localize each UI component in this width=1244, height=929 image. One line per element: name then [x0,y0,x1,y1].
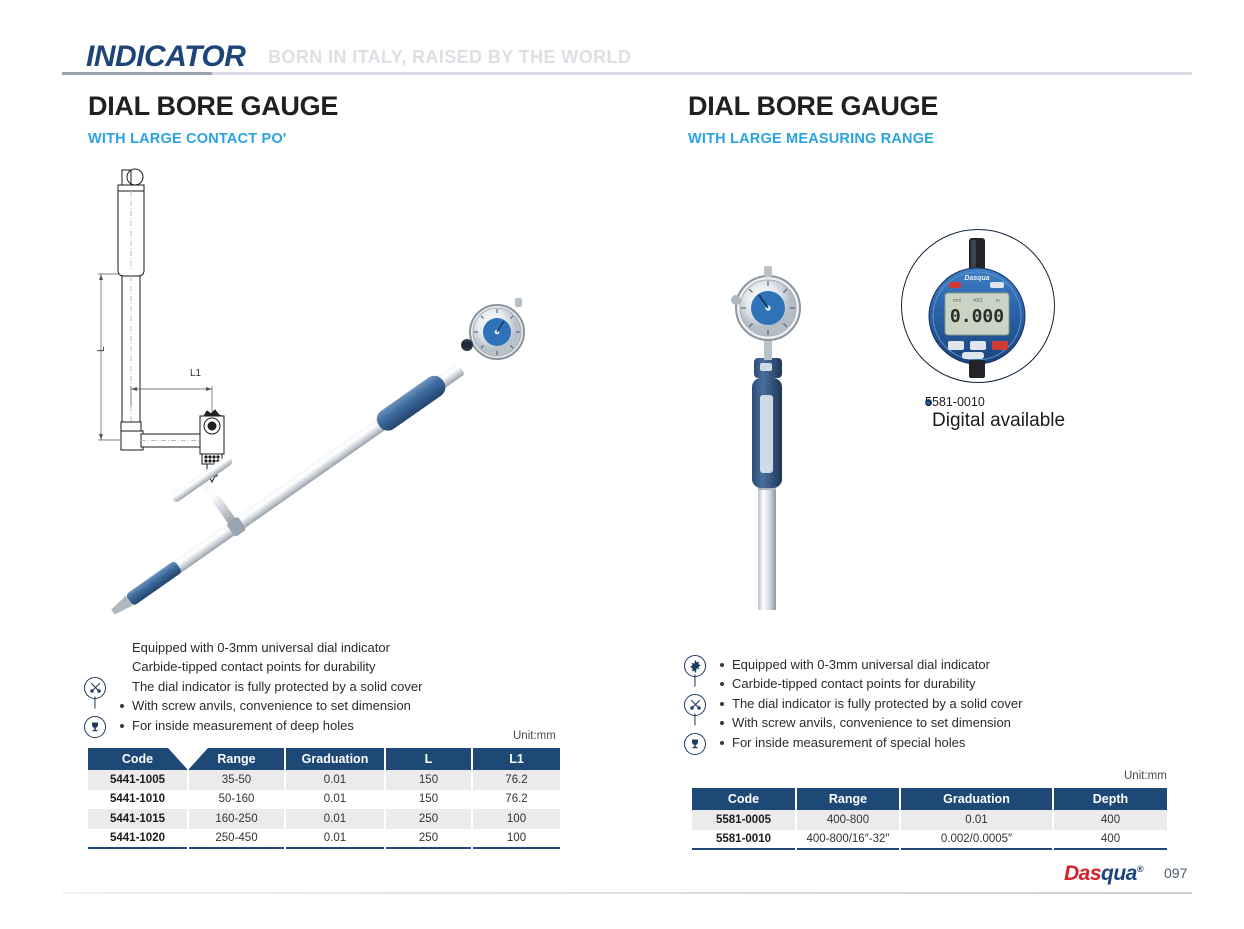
product-subtitle-left: WITH LARGE CONTACT PO' [88,131,311,147]
dash-connector-icon: | [684,713,706,725]
digital-indicator-image: 0.000 mmABSin Dasqua [918,238,1040,378]
feature-text: Equipped with 0-3mm universal dial indic… [132,638,390,657]
cell-code: 5441-1020 [88,829,188,849]
feature-row: | With screw anvils, convenience to set … [684,713,1104,732]
brand-logo: Dasqua® [1064,862,1143,886]
table-row[interactable]: 5581-0010 400-800/16″-32″ 0.002/0.0005″ … [692,830,1167,850]
feature-row: The dial indicator is fully protected by… [84,677,504,696]
brand-tagline: BORN IN ITALY, RAISED BY THE WORLD [268,47,631,68]
table-row[interactable]: 5441-1010 50-160 0.01 150 76.2 [88,790,560,810]
col-header-graduation: Graduation [285,748,385,770]
cell-range: 400-800 [796,810,900,830]
product-subtitle-right: WITH LARGE MEASURING RANGE [688,131,1188,147]
feature-list-right: Equipped with 0-3mm universal dial indic… [684,655,1104,752]
cell-range: 160-250 [188,809,285,829]
lcd-reading: 0.000 [950,306,1004,327]
feature-text: With screw anvils, convenience to set di… [732,713,1011,732]
cell-l1: 76.2 [472,790,560,810]
cell-l1: 100 [472,829,560,849]
cell-graduation: 0.002/0.0005″ [900,830,1053,850]
feature-row: Equipped with 0-3mm universal dial indic… [684,655,1104,674]
cell-code: 5441-1015 [88,809,188,829]
catalog-page: INDICATOR BORN IN ITALY, RAISED BY THE W… [0,0,1244,929]
table-row[interactable]: 5441-1015 160-250 0.01 250 100 [88,809,560,829]
col-header-code: Code [692,788,796,810]
table-row[interactable]: 5581-0005 400-800 0.01 400 [692,810,1167,830]
svg-text:in: in [996,298,1000,304]
feature-text: For inside measurement of deep holes [132,716,354,735]
cell-graduation: 0.01 [285,790,385,810]
page-number: 097 [1164,865,1187,881]
footer-divider [62,892,1192,894]
cell-graduation: 0.01 [285,829,385,849]
cell-graduation: 0.01 [285,809,385,829]
feature-text: The dial indicator is fully protected by… [132,677,422,696]
cell-code: 5581-0010 [692,830,796,850]
feature-text: Carbide-tipped contact points for durabi… [132,657,376,676]
cell-graduation: 0.01 [285,770,385,790]
feature-text: With screw anvils, convenience to set di… [132,696,411,715]
bullet-point [720,702,724,706]
cell-depth: 400 [1053,810,1167,830]
feature-row: | Carbide-tipped contact points for dura… [684,674,1104,693]
feature-text: The dial indicator is fully protected by… [732,694,1022,713]
cell-code: 5581-0005 [692,810,796,830]
table-row[interactable]: 5441-1020 250-450 0.01 250 100 [88,829,560,849]
spec-table-right: Code Range Graduation Depth 5581-0005 40… [692,788,1167,850]
bullet-point [720,741,724,745]
logo-trademark: ® [1137,864,1143,874]
svg-text:ABS: ABS [973,298,984,304]
cell-range: 400-800/16″-32″ [796,830,900,850]
cell-code: 5441-1010 [88,790,188,810]
trophy-icon [684,733,716,755]
callout-caption: Digital available [932,410,1065,432]
bullet-point [120,724,124,728]
logo-first-part: Das [1064,862,1101,885]
unit-label-right: Unit:mm [1124,770,1167,782]
feature-text: Carbide-tipped contact points for durabi… [732,674,976,693]
cell-l: 250 [385,809,472,829]
feature-row: For inside measurement of deep holes [84,716,504,735]
spec-table-left: Code Range Graduation L L1 5441-1005 35-… [88,748,560,849]
product-title-right: DIAL BORE GAUGE [688,92,1188,122]
unit-label-left: Unit:mm [513,730,556,742]
table-header-row: Code Range Graduation Depth [692,788,1167,810]
bullet-point [720,663,724,667]
cell-range: 50-160 [188,790,285,810]
product-column-left: DIAL BORE GAUGE WITH LARGE CONTACT PO' [88,92,618,147]
logo-second-part: qua [1101,862,1137,885]
cell-l1: 76.2 [472,770,560,790]
cell-l: 150 [385,790,472,810]
cell-l: 150 [385,770,472,790]
dash-connector-icon: | [684,674,706,686]
bullet-point [120,704,124,708]
product-column-right: DIAL BORE GAUGE WITH LARGE MEASURING RAN… [688,92,1188,147]
feature-row: | With screw anvils, convenience to set … [84,696,504,715]
bullet-point [720,721,724,725]
feature-text: Equipped with 0-3mm universal dial indic… [732,655,990,674]
cell-depth: 400 [1053,830,1167,850]
category-title: INDICATOR [86,40,245,74]
table-header-row: Code Range Graduation L L1 [88,748,560,770]
feature-list-left: Equipped with 0-3mm universal dial indic… [84,638,504,735]
bullet-point [720,682,724,686]
cell-l: 250 [385,829,472,849]
feature-row: The dial indicator is fully protected by… [684,694,1104,713]
cell-range: 35-50 [188,770,285,790]
callout-product-code: 5581-0010 [925,395,985,409]
feature-row: Carbide-tipped contact points for durabi… [84,657,504,676]
product-title-left: DIAL BORE GAUGE [88,92,618,122]
col-header-l1: L1 [472,748,560,770]
cell-range: 250-450 [188,829,285,849]
col-header-depth: Depth [1053,788,1167,810]
feature-row: For inside measurement of special holes [684,733,1104,752]
svg-text:mm: mm [953,298,961,304]
cell-code: 5441-1005 [88,770,188,790]
col-header-graduation: Graduation [900,788,1053,810]
col-header-range: Range [796,788,900,810]
table-row[interactable]: 5441-1005 35-50 0.01 150 76.2 [88,770,560,790]
feature-text: For inside measurement of special holes [732,733,965,752]
col-header-l: L [385,748,472,770]
trophy-icon [84,716,116,738]
dash-connector-icon: | [84,696,106,708]
product-photo-left [60,285,600,635]
cell-graduation: 0.01 [900,810,1053,830]
table-header-notch [168,748,208,770]
cell-l1: 100 [472,809,560,829]
feature-row: Equipped with 0-3mm universal dial indic… [84,638,504,657]
svg-text:Dasqua: Dasqua [964,275,989,282]
